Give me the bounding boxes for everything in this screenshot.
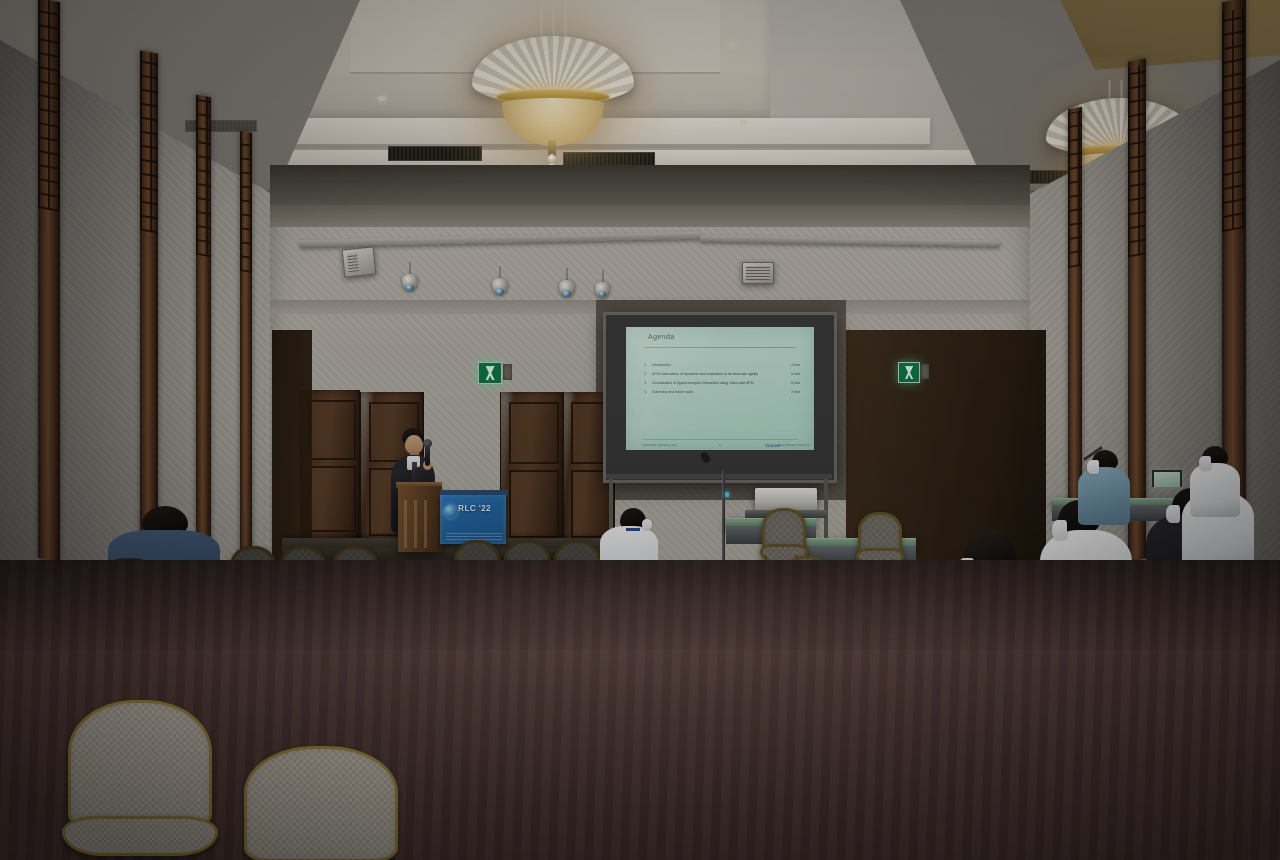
globe-icon: [444, 505, 457, 518]
agenda-item: 2. AFM observation of liposome and evalu…: [644, 373, 800, 377]
agenda-item-duration: 2 min: [791, 391, 800, 395]
attendee-shirt: [1078, 467, 1130, 525]
slide-page-number: 2: [719, 444, 720, 447]
face-mask: [1087, 460, 1099, 474]
face-mask: [1052, 520, 1067, 540]
slide-title: Agenda: [648, 334, 675, 341]
conference-room-photo: Agenda 1. Introduction 2 min 2. AFM obse…: [0, 0, 1280, 860]
laptop-screen-far-2[interactable]: [1152, 470, 1182, 487]
wall-lattice-right-1: [1222, 8, 1246, 233]
slide-surface: Agenda 1. Introduction 2 min 2. AFM obse…: [626, 327, 814, 450]
wall-lattice-left-2: [140, 50, 158, 233]
agenda-item-text: Visualization of ligand-receptor interac…: [652, 382, 791, 386]
chair[interactable]: [62, 700, 212, 860]
face-mask: [642, 519, 652, 530]
chair[interactable]: [238, 746, 398, 860]
door-3[interactable]: [500, 392, 564, 547]
face-mask: [1199, 456, 1211, 470]
agenda-item: 1. Introduction 2 min: [644, 364, 800, 368]
slide-logo-subtitle: Tosoh Research Center Co.: [778, 444, 810, 447]
wall-lattice-left-3: [196, 95, 211, 257]
running-man-icon: [903, 366, 915, 380]
slide-footer-note: Confidential - internal use only: [642, 444, 677, 447]
projection-screen: Agenda 1. Introduction 2 min 2. AFM obse…: [603, 312, 837, 483]
ceiling-downlight-2: [378, 96, 386, 101]
floor-shadow: [0, 560, 1280, 650]
agenda-item-number: 2.: [644, 373, 652, 377]
exit-sign-right: [898, 362, 920, 383]
door-panel: [308, 466, 356, 532]
agenda-item-duration: 6 min: [791, 373, 800, 377]
wall-header-light: [270, 205, 1030, 227]
ceiling-downlight-1: [360, 8, 369, 14]
banner-title: RLC '22: [458, 504, 491, 513]
mic-stand-indicator-light: [725, 492, 729, 497]
spotlight-lens-2: [495, 288, 504, 295]
slide-footer-rule: [642, 439, 798, 440]
spotlight-lens-4: [598, 291, 606, 297]
attendee-right-6: [1190, 446, 1244, 516]
attendee-right-5: [1078, 450, 1134, 526]
spotlight-lens-1: [405, 284, 414, 291]
slide-title-rule: [644, 347, 796, 348]
wall-lattice-left-1: [38, 0, 60, 212]
agenda-item-duration: 6 min: [791, 382, 800, 386]
microphone-capsule: [423, 439, 432, 448]
agenda-item-number: 3.: [644, 382, 652, 386]
agenda-item: 4. Summary and future work 2 min: [644, 391, 800, 395]
ceiling-speaker-right: [742, 262, 774, 284]
exit-sign-left-plate: [503, 364, 512, 380]
agenda-item-duration: 2 min: [791, 364, 800, 368]
wall-lattice-right-3: [1068, 111, 1082, 268]
face-mask: [1166, 505, 1180, 523]
door-panel: [509, 470, 559, 538]
wall-wood-panel-left: [272, 330, 312, 560]
screen-base-bar: [606, 474, 832, 479]
agenda-list: 1. Introduction 2 min 2. AFM observation…: [644, 364, 800, 400]
ceiling-downlight-4: [740, 120, 748, 125]
attendee-shirt: [1190, 463, 1240, 517]
agenda-item-text: AFM observation of liposome and evaluati…: [652, 373, 791, 377]
door-panel: [308, 400, 356, 460]
wall-lattice-left-4: [240, 131, 252, 273]
banner-subtext: [446, 533, 502, 540]
exit-sign-left: [478, 362, 502, 384]
agenda-item-text: Summary and future work: [652, 391, 791, 395]
podium-trim-1: [404, 500, 407, 548]
wall-lattice-right-2: [1128, 64, 1146, 257]
podium-banner: RLC '22: [440, 494, 506, 544]
spotlight-lens-3: [562, 290, 571, 297]
podium-trim-3: [424, 500, 427, 548]
running-man-icon: [483, 366, 496, 380]
podium-trim-2: [414, 500, 417, 548]
chandelier-bowl: [502, 98, 604, 146]
ceiling-downlight-3: [728, 42, 736, 47]
lanyard: [626, 528, 640, 531]
door-panel: [509, 402, 559, 464]
exit-sign-right-plate: [921, 364, 929, 379]
agenda-item-text: Introduction: [652, 364, 791, 368]
agenda-item-number: 4.: [644, 391, 652, 395]
agenda-item-number: 1.: [644, 364, 652, 368]
podium-side-panel: [440, 490, 508, 495]
agenda-item: 3. Visualization of ligand-receptor inte…: [644, 382, 800, 386]
ceiling-speaker-left: [342, 246, 377, 277]
